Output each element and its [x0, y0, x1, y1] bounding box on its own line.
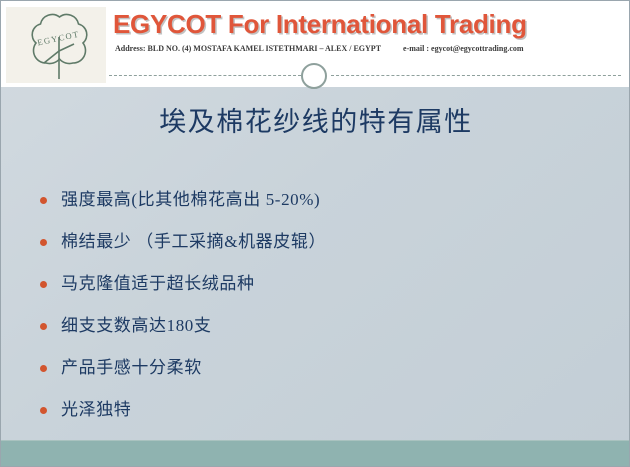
bullet-dot-icon	[40, 407, 47, 414]
list-item: 细支支数高达180支	[35, 315, 595, 337]
list-item-label: 强度最高(比其他棉花高出 5-20%)	[61, 190, 320, 209]
bullet-dot-icon	[40, 323, 47, 330]
list-item: 棉结最少 （手工采摘&机器皮辊）	[35, 231, 595, 253]
list-item-label: 马克隆值适于超长绒品种	[61, 274, 255, 293]
company-contact-line: Address: BLD NO. (4) MOSTAFA KAMEL ISTET…	[115, 43, 623, 54]
bullet-list: 强度最高(比其他棉花高出 5-20%) 棉结最少 （手工采摘&机器皮辊） 马克隆…	[35, 189, 595, 421]
list-item-label: 棉结最少 （手工采摘&机器皮辊）	[61, 232, 326, 251]
divider-line-left	[109, 75, 301, 76]
presentation-slide: EGYCOT EGYCOT For International Trading …	[0, 0, 630, 467]
slide-header: EGYCOT EGYCOT For International Trading …	[1, 1, 630, 87]
company-address-text: Address: BLD NO. (4) MOSTAFA KAMEL ISTET…	[115, 44, 381, 53]
divider-line-right	[331, 75, 621, 76]
bullet-dot-icon	[40, 281, 47, 288]
list-item: 马克隆值适于超长绒品种	[35, 273, 595, 295]
company-email-text: e-mail : egycot@egycottrading.com	[403, 44, 524, 53]
company-name-title: EGYCOT For International Trading	[113, 9, 625, 39]
bullet-dot-icon	[40, 239, 47, 246]
list-item: 强度最高(比其他棉花高出 5-20%)	[35, 189, 595, 211]
slide-footer-bar	[1, 440, 630, 466]
bullet-dot-icon	[40, 365, 47, 372]
list-item-label: 光泽独特	[61, 400, 131, 419]
list-item: 光泽独特	[35, 399, 595, 421]
page-title: 埃及棉花纱线的特有属性	[1, 105, 630, 139]
bullet-dot-icon	[40, 197, 47, 204]
header-divider	[1, 63, 630, 87]
list-item: 产品手感十分柔软	[35, 357, 595, 379]
circle-ornament-icon	[301, 63, 327, 89]
list-item-label: 产品手感十分柔软	[61, 358, 202, 377]
list-item-label: 细支支数高达180支	[61, 316, 212, 335]
